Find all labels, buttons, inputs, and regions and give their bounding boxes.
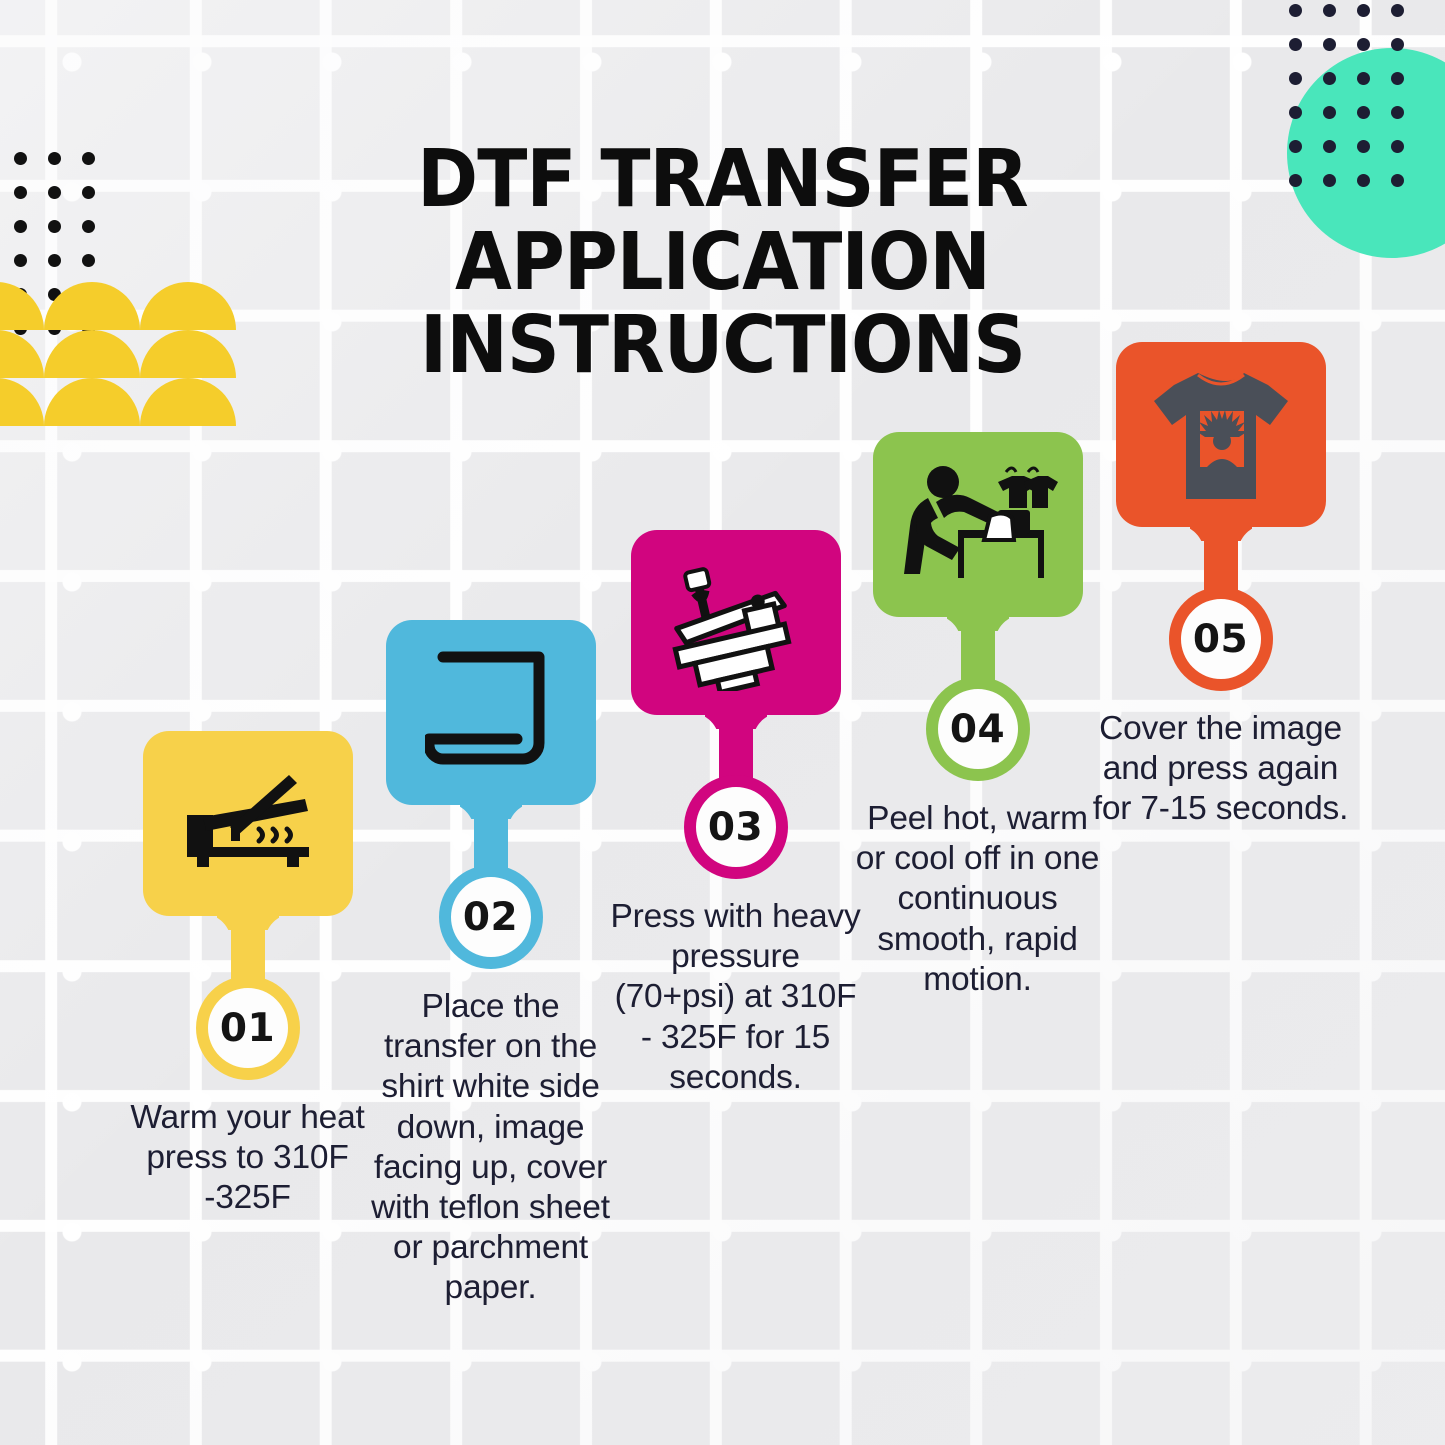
connector-fillet-right [753,713,781,743]
step-caption-04: Peel hot, warm or cool off in one contin… [849,799,1107,1000]
connector-fillet-right [1238,525,1266,555]
step-number-badge-04[interactable]: 04 [926,677,1030,781]
step-caption-01: Warm your heat press to 310F -325F [119,1098,377,1219]
step-03[interactable]: 03Press with heavy pressure (70+psi) at … [608,530,863,1098]
worker-peeling-transfer-icon [898,460,1058,590]
step-04[interactable]: 04Peel hot, warm or cool off in one cont… [850,432,1105,1000]
heat-press-open-icon [173,769,323,879]
step-01[interactable]: 01Warm your heat press to 310F -325F [120,731,375,1219]
step-number-badge-01[interactable]: 01 [196,976,300,1080]
step-icon-card-01[interactable] [143,731,353,916]
step-icon-card-03[interactable] [631,530,841,715]
step-icon-card-02[interactable] [386,620,596,805]
step-icon-card-05[interactable] [1116,342,1326,527]
connector-fillet-left [933,615,961,645]
step-02[interactable]: 02Place the transfer on the shirt white … [363,620,618,1309]
step-number-badge-02[interactable]: 02 [439,865,543,969]
step-number-badge-03[interactable]: 03 [684,775,788,879]
step-caption-02: Place the transfer on the shirt white si… [362,987,620,1309]
connector-fillet-right [265,914,293,944]
connector-fillet-right [995,615,1023,645]
steps-container: 01Warm your heat press to 310F -325F 02P… [0,0,1445,1445]
heat-press-machine-icon [661,555,811,691]
connector-fillet-left [691,713,719,743]
step-icon-card-04[interactable] [873,432,1083,617]
step-05[interactable]: 05Cover the image and press again for 7-… [1093,342,1348,830]
connector-fillet-left [446,803,474,833]
connector-fillet-left [1176,525,1204,555]
transfer-sheet-icon [425,649,557,777]
step-caption-03: Press with heavy pressure (70+psi) at 31… [607,897,865,1098]
step-number-badge-05[interactable]: 05 [1169,587,1273,691]
step-caption-05: Cover the image and press again for 7-15… [1092,709,1350,830]
connector-fillet-right [508,803,536,833]
connector-fillet-left [203,914,231,944]
printed-tshirt-icon [1146,367,1296,502]
